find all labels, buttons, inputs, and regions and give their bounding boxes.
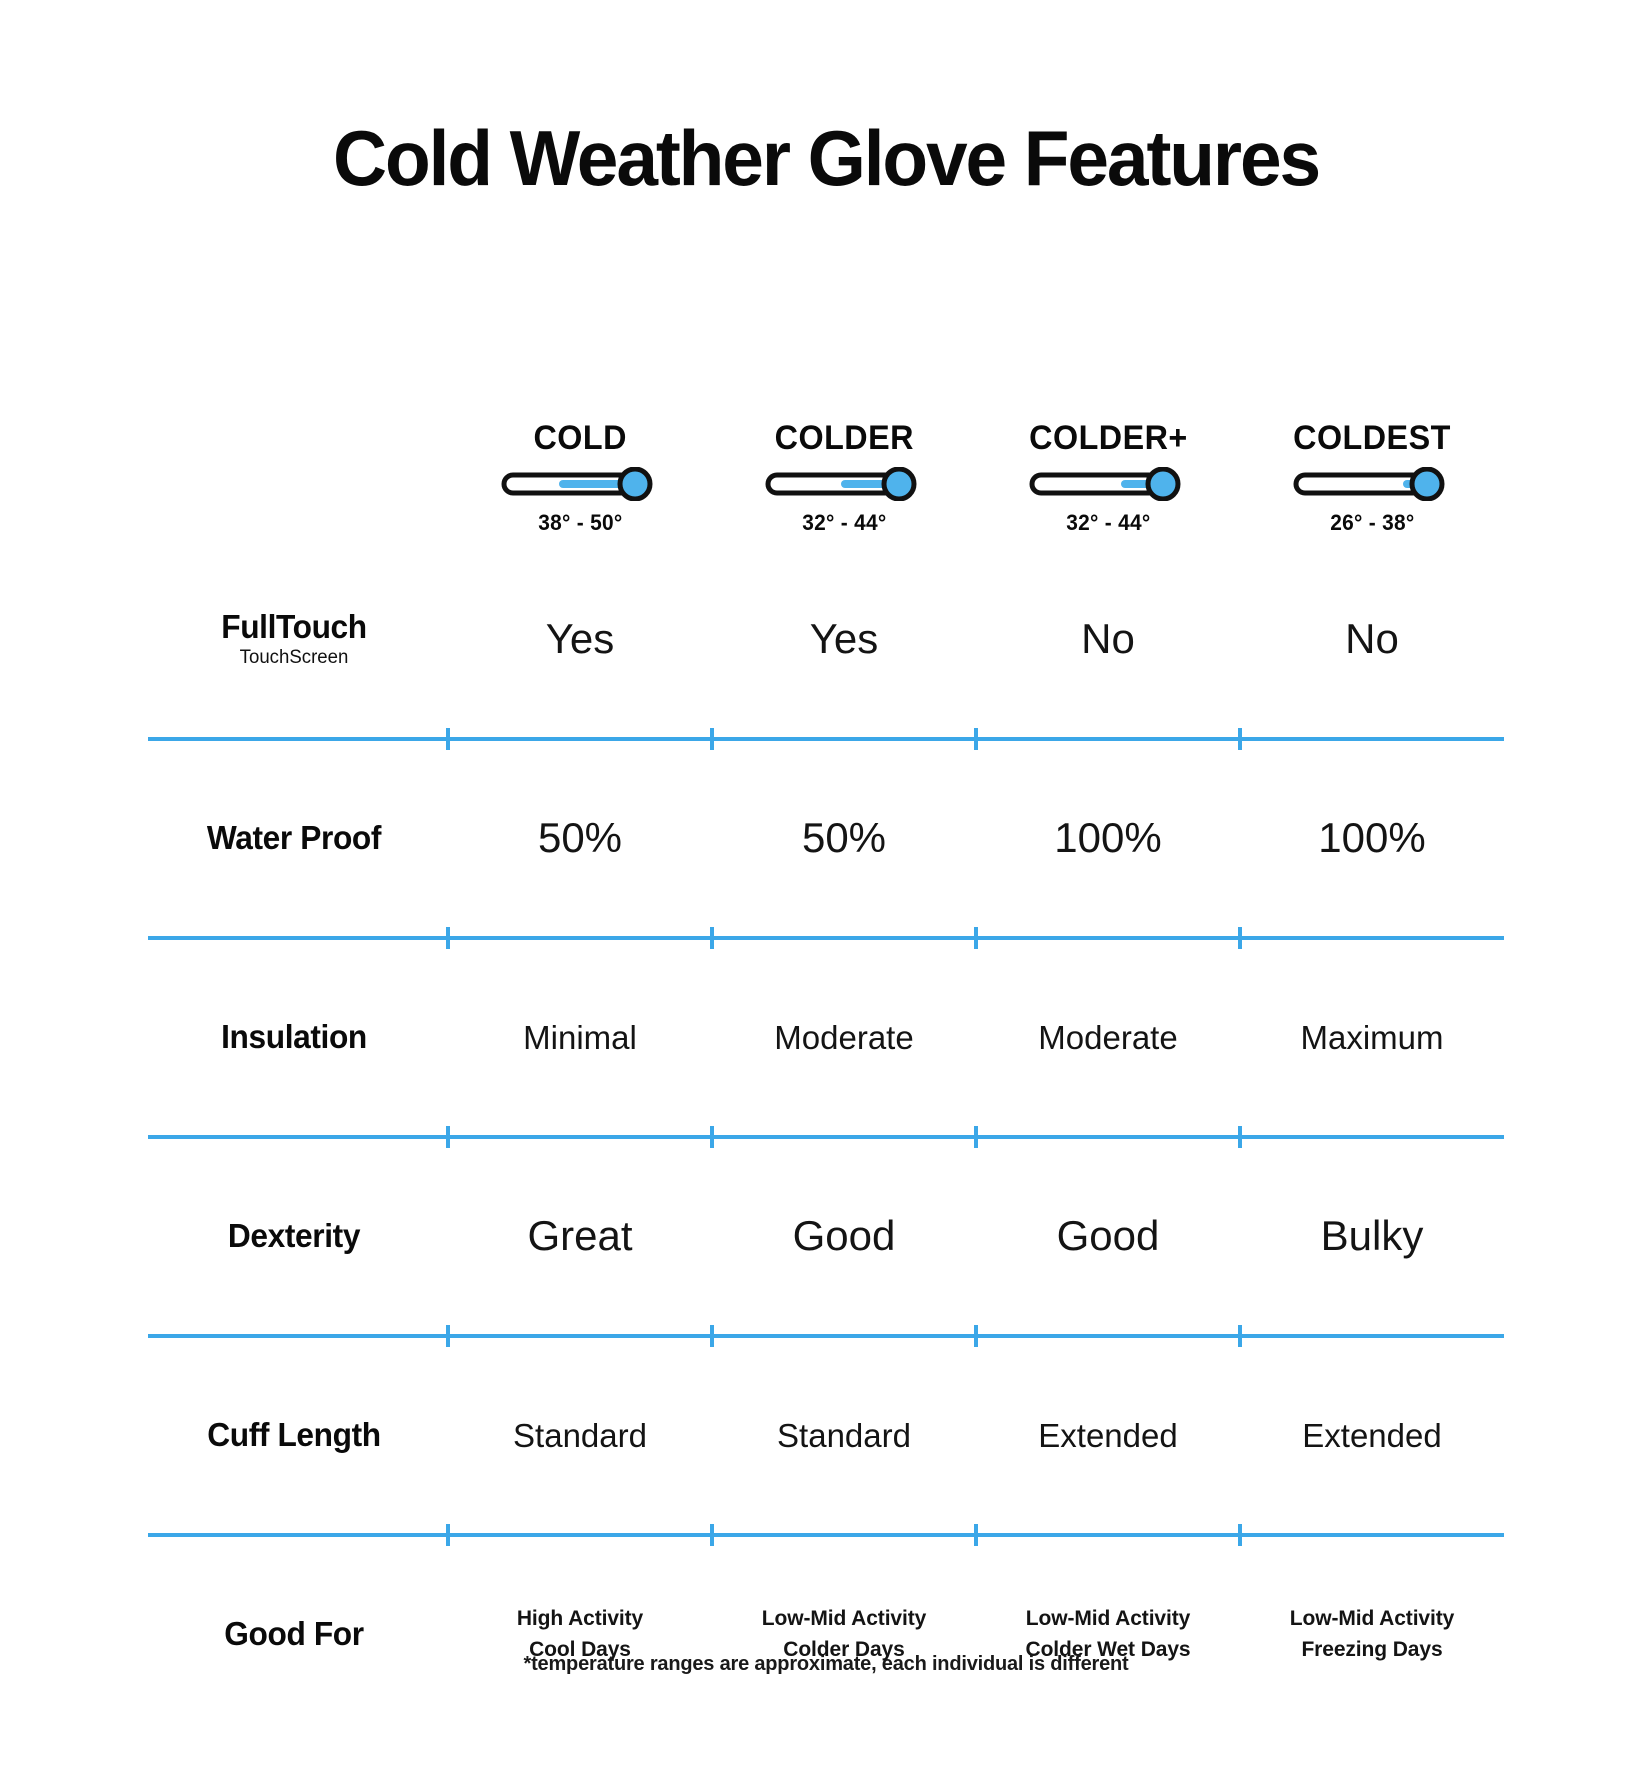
row-label-text: Cuff Length bbox=[154, 1418, 434, 1453]
table-row: Water Proof 50% 50% 100% 100% bbox=[148, 752, 1504, 925]
divider-tick bbox=[446, 728, 450, 750]
row-label-text: Insulation bbox=[154, 1020, 434, 1055]
cell-value: Moderate bbox=[976, 1019, 1240, 1057]
row-label-text: Good For bbox=[154, 1617, 434, 1652]
cell-value-line1: Low-Mid Activity bbox=[976, 1604, 1240, 1634]
row-divider bbox=[148, 1323, 1504, 1349]
divider-tick bbox=[1238, 1126, 1242, 1148]
temperature-range: 26° - 38° bbox=[1330, 510, 1414, 536]
divider-tick bbox=[974, 728, 978, 750]
row-label-dexterity: Dexterity bbox=[148, 1219, 448, 1254]
divider-tick bbox=[1238, 927, 1242, 949]
divider-line bbox=[148, 737, 1504, 741]
divider-tick bbox=[710, 927, 714, 949]
divider-tick bbox=[446, 1126, 450, 1148]
cell-value-line1: High Activity bbox=[448, 1604, 712, 1634]
column-title: COLDEST bbox=[1293, 421, 1451, 455]
divider-line bbox=[148, 1533, 1504, 1537]
temperature-range: 38° - 50° bbox=[538, 510, 622, 536]
cell-value: 50% bbox=[448, 814, 712, 862]
divider-tick bbox=[710, 1325, 714, 1347]
page-title: Cold Weather Glove Features bbox=[33, 118, 1619, 200]
row-label-text: Water Proof bbox=[154, 821, 434, 856]
row-label-good-for: Good For bbox=[148, 1617, 448, 1652]
cell-value: Bulky bbox=[1240, 1212, 1504, 1260]
thermometer-icon bbox=[501, 467, 659, 501]
divider-tick bbox=[710, 1524, 714, 1546]
column-header-colder: COLDER 32° - 44° bbox=[712, 403, 976, 536]
cell-value: No bbox=[1240, 615, 1504, 663]
cell-value: Standard bbox=[712, 1417, 976, 1455]
row-label-text: Dexterity bbox=[154, 1219, 434, 1254]
divider-line bbox=[148, 936, 1504, 940]
cell-value: Extended bbox=[1240, 1417, 1504, 1455]
row-label-text: FullTouch bbox=[154, 610, 434, 645]
cell-value: No bbox=[976, 615, 1240, 663]
divider-tick bbox=[1238, 1524, 1242, 1546]
row-divider bbox=[148, 925, 1504, 951]
column-header-cold: COLD 38° - 50° bbox=[448, 403, 712, 536]
cell-value: Moderate bbox=[712, 1019, 976, 1057]
row-divider bbox=[148, 726, 1504, 752]
cell-value: Good bbox=[976, 1212, 1240, 1260]
table-row: Cuff Length Standard Standard Extended E… bbox=[148, 1349, 1504, 1522]
divider-tick bbox=[1238, 1325, 1242, 1347]
thermometer-icon bbox=[765, 467, 923, 501]
infographic-page: Cold Weather Glove Features COLD 38° - 5… bbox=[0, 118, 1652, 1770]
divider-tick bbox=[446, 1325, 450, 1347]
cell-value: Maximum bbox=[1240, 1019, 1504, 1057]
cell-value: 50% bbox=[712, 814, 976, 862]
column-title: COLDER bbox=[774, 421, 913, 455]
divider-tick bbox=[446, 1524, 450, 1546]
row-divider bbox=[148, 1124, 1504, 1150]
divider-tick bbox=[710, 1126, 714, 1148]
column-title: COLDER+ bbox=[1029, 421, 1188, 455]
divider-tick bbox=[974, 1325, 978, 1347]
row-label-fulltouch: FullTouch TouchScreen bbox=[148, 610, 448, 669]
table-row: FullTouch TouchScreen Yes Yes No No bbox=[148, 553, 1504, 726]
divider-line bbox=[148, 1334, 1504, 1338]
divider-tick bbox=[974, 1126, 978, 1148]
table-row: Dexterity Great Good Good Bulky bbox=[148, 1150, 1504, 1323]
row-divider bbox=[148, 1522, 1504, 1548]
cell-value: Standard bbox=[448, 1417, 712, 1455]
thermometer-icon bbox=[1029, 467, 1187, 501]
cell-value: Yes bbox=[448, 615, 712, 663]
cell-value: Great bbox=[448, 1212, 712, 1260]
table-row: Insulation Minimal Moderate Moderate Max… bbox=[148, 951, 1504, 1124]
table-row: Good For High Activity Cool Days Low-Mid… bbox=[148, 1548, 1504, 1721]
column-header-coldest: COLDEST 26° - 38° bbox=[1240, 403, 1504, 536]
row-sublabel-text: TouchScreen bbox=[151, 648, 437, 669]
divider-tick bbox=[1238, 728, 1242, 750]
divider-tick bbox=[710, 728, 714, 750]
comparison-table: COLD 38° - 50° COLDER 32° - 44° COLD bbox=[148, 403, 1504, 1721]
cell-value: Good bbox=[712, 1212, 976, 1260]
cell-value: Yes bbox=[712, 615, 976, 663]
divider-tick bbox=[974, 1524, 978, 1546]
column-header-colder-plus: COLDER+ 32° - 44° bbox=[976, 403, 1240, 536]
cell-value: Extended bbox=[976, 1417, 1240, 1455]
cell-value: 100% bbox=[976, 814, 1240, 862]
row-label-water-proof: Water Proof bbox=[148, 821, 448, 856]
cell-value-line1: Low-Mid Activity bbox=[1240, 1604, 1504, 1634]
row-label-insulation: Insulation bbox=[148, 1020, 448, 1055]
divider-tick bbox=[974, 927, 978, 949]
row-label-cuff-length: Cuff Length bbox=[148, 1418, 448, 1453]
table-header-row: COLD 38° - 50° COLDER 32° - 44° COLD bbox=[148, 403, 1504, 553]
divider-line bbox=[148, 1135, 1504, 1139]
cell-value: Minimal bbox=[448, 1019, 712, 1057]
divider-tick bbox=[446, 927, 450, 949]
thermometer-icon bbox=[1293, 467, 1451, 501]
column-title: COLD bbox=[533, 421, 626, 455]
footnote: *temperature ranges are approximate, eac… bbox=[0, 1653, 1652, 1676]
cell-value: 100% bbox=[1240, 814, 1504, 862]
cell-value-line1: Low-Mid Activity bbox=[712, 1604, 976, 1634]
temperature-range: 32° - 44° bbox=[802, 510, 886, 536]
temperature-range: 32° - 44° bbox=[1066, 510, 1150, 536]
